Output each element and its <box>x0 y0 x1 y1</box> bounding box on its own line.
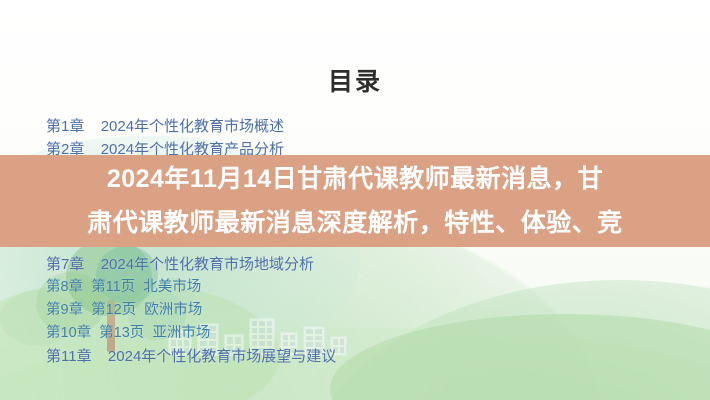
toc-page-number: 第13页 <box>95 322 148 345</box>
toc-item[interactable]: 第10章 第13页 亚洲市场 <box>46 322 566 345</box>
toc-item[interactable]: 第1章 2024年个性化教育市场概述 <box>46 115 566 138</box>
toc-chapter-number: 第11章 <box>46 345 92 368</box>
toc-chapter-number: 第1章 <box>46 115 84 138</box>
caption-line-2: 肃代课教师最新消息深度解析，特性、体验、竞 <box>6 201 704 245</box>
caption-banner-text: 2024年11月14日甘肃代课教师最新消息，甘 肃代课教师最新消息深度解析，特性… <box>0 155 710 247</box>
toc-chapter-title: 北美市场 <box>143 279 201 295</box>
toc-page-number: 第12页 <box>87 299 140 322</box>
toc-chapter-number: 第9章 <box>46 299 83 322</box>
toc-chapter-number: 第10章 <box>46 322 91 345</box>
toc-chapter-title: 2024年个性化教育市场地域分析 <box>101 256 314 273</box>
caption-line-1: 2024年11月14日甘肃代课教师最新消息，甘 <box>6 157 704 201</box>
toc-chapter-title: 2024年个性化教育市场展望与建议 <box>108 348 336 365</box>
toc-item[interactable]: 第11章 2024年个性化教育市场展望与建议 <box>46 345 566 368</box>
toc-chapter-title: 2024年个性化教育市场概述 <box>101 118 284 135</box>
toc-page-number: 第11页 <box>87 276 139 299</box>
toc-chapter-number: 第7章 <box>46 253 84 276</box>
toc-item[interactable]: 第9章 第12页 欧洲市场 <box>46 299 566 322</box>
toc-chapter-number: 第8章 <box>46 276 83 299</box>
toc-chapter-title: 欧洲市场 <box>144 302 202 318</box>
page-title: 目录 <box>0 62 710 98</box>
toc-chapter-title: 亚洲市场 <box>152 325 210 341</box>
toc-item[interactable]: 第7章 2024年个性化教育市场地域分析 <box>46 253 566 276</box>
toc-item[interactable]: 第8章 第11页 北美市场 <box>46 276 566 299</box>
slide-canvas: 目录 第1章 2024年个性化教育市场概述 第2章 2024年个性化教育产品分析… <box>0 0 710 400</box>
